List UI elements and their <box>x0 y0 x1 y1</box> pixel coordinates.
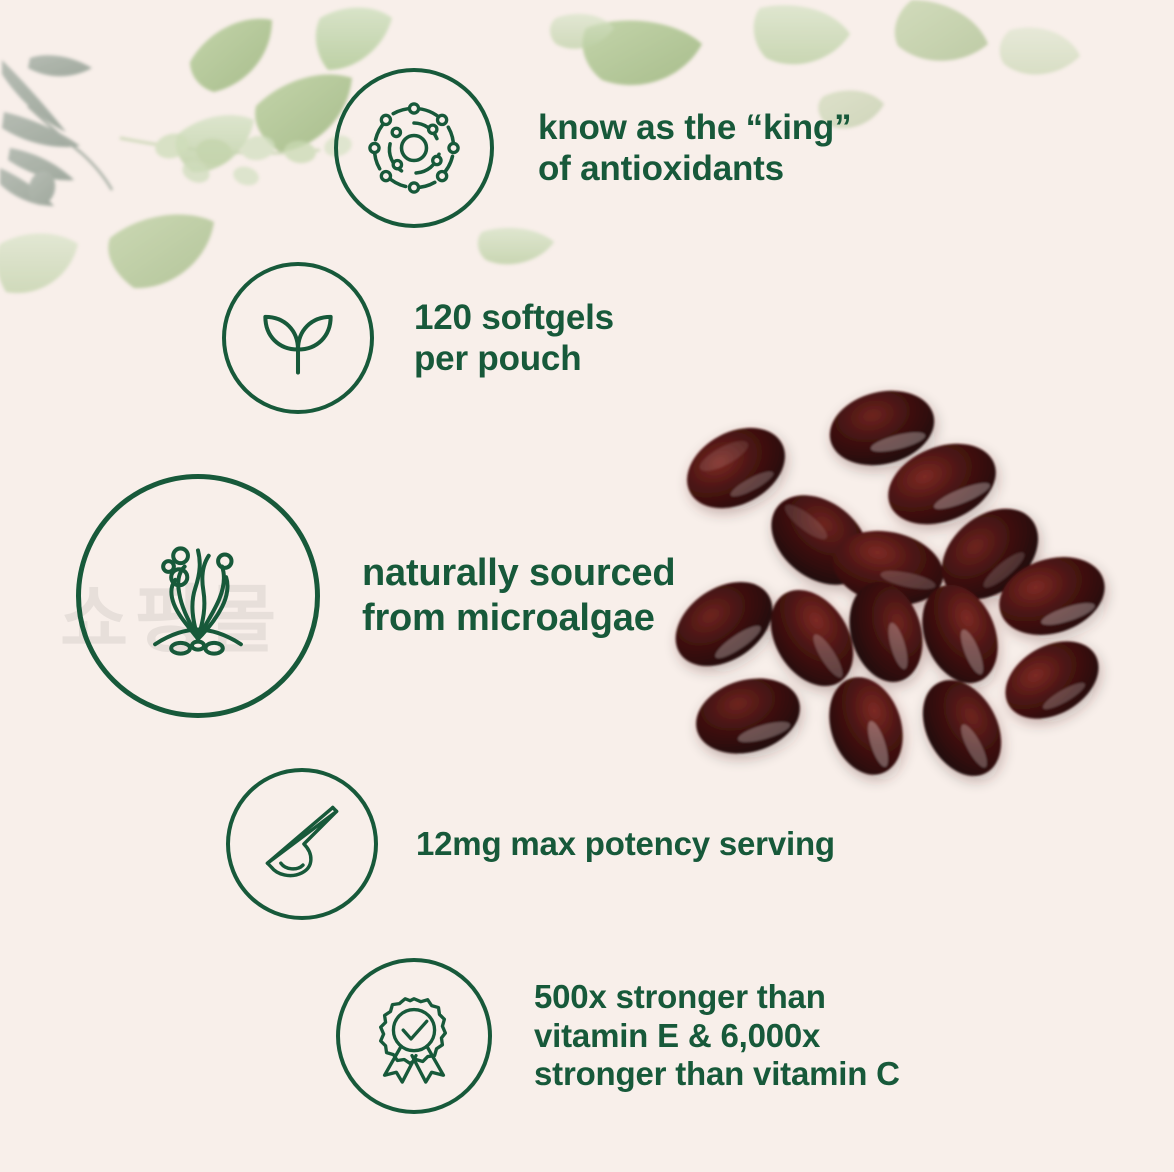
eucalyptus-sprig <box>120 130 354 188</box>
sprout-leaf-icon-badge <box>222 262 374 414</box>
astaxanthin-softgel-capsules <box>660 380 1140 800</box>
feature-label-antioxidant: know as the “king” of antioxidants <box>538 107 851 190</box>
feature-label-serving: 12mg max potency serving <box>416 825 835 864</box>
capsule <box>660 565 788 684</box>
seaweed-algae-icon <box>131 529 265 663</box>
feature-row-serving: 12mg max potency serving <box>226 768 835 920</box>
antioxidant-molecule-icon-badge <box>334 68 494 228</box>
feature-row-count: 120 softgels per pouch <box>222 262 614 414</box>
capsule <box>907 667 1017 790</box>
capsule <box>992 626 1113 735</box>
feature-label-source: naturally sourced from microalgae <box>362 551 675 641</box>
feature-row-potency: 500x stronger than vitamin E & 6,000x st… <box>336 958 900 1114</box>
award-ribbon-check-icon <box>365 987 463 1085</box>
sprout-leaf-icon <box>250 290 346 386</box>
award-ribbon-check-icon-badge <box>336 958 492 1114</box>
feature-label-count: 120 softgels per pouch <box>414 297 614 380</box>
spoon-scoop-icon-badge <box>226 768 378 920</box>
product-infographic: 쇼핑몰 <box>0 0 1174 1172</box>
leaf-branch-gray <box>0 55 112 207</box>
feature-row-antioxidant: know as the “king” of antioxidants <box>334 68 851 228</box>
feature-label-potency: 500x stronger than vitamin E & 6,000x st… <box>534 978 900 1095</box>
spoon-scoop-icon <box>254 796 350 892</box>
antioxidant-molecule-icon <box>362 96 466 200</box>
capsule <box>687 667 809 765</box>
feature-row-source: naturally sourced from microalgae <box>76 474 675 718</box>
seaweed-algae-icon-badge <box>76 474 320 718</box>
